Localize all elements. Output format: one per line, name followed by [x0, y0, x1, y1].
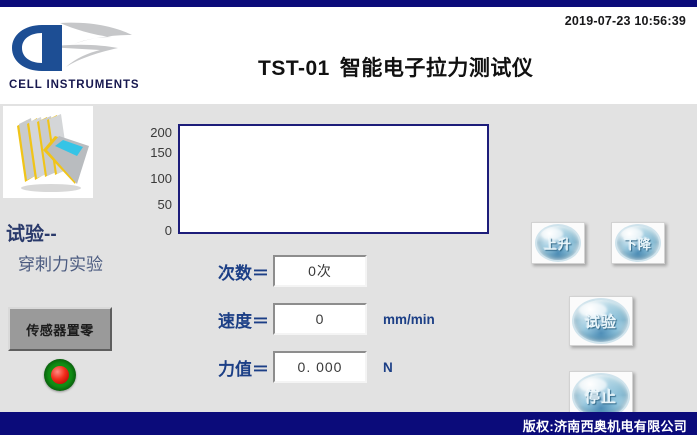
application-window: CELL INSTRUMENTS 2019-07-23 10:56:39 TST… [0, 0, 697, 435]
book-stack-icon [3, 106, 93, 198]
page-title: TST-01智能电子拉力测试仪 [258, 52, 533, 82]
count-label: 次数＝ [218, 259, 269, 284]
speed-input[interactable]: 0 [273, 303, 367, 335]
brand-name: CELL INSTRUMENTS [9, 79, 139, 91]
y-tick-0: 0 [165, 224, 172, 237]
page-title-model: TST-01 [258, 57, 330, 80]
force-label: 力值＝ [218, 355, 269, 380]
start-test-label: 试验 [585, 311, 617, 332]
datetime-display: 2019-07-23 10:56:39 [565, 14, 686, 28]
header-bar: CELL INSTRUMENTS 2019-07-23 10:56:39 TST… [0, 7, 697, 104]
top-accent-bar [0, 0, 697, 7]
stop-label: 停止 [585, 386, 617, 407]
move-up-orb: 上升 [535, 224, 581, 262]
chart-plot-area[interactable] [178, 124, 489, 234]
start-test-button[interactable]: 试验 [569, 296, 633, 346]
page-title-name: 智能电子拉力测试仪 [340, 57, 534, 80]
chart-series-layer [180, 126, 487, 232]
y-tick-50: 50 [158, 198, 172, 211]
count-field-row: 次数＝ 0次 [218, 254, 367, 288]
move-down-button[interactable]: 下降 [611, 222, 665, 264]
main-content: 试验-- 穿刺力实验 传感器置零 200 150 100 50 0 次数＝ 0次 [0, 104, 697, 412]
move-up-button[interactable]: 上升 [531, 222, 585, 264]
speed-label: 速度＝ [218, 307, 269, 332]
y-tick-150: 150 [150, 146, 172, 159]
book-stack-glyph [3, 106, 93, 198]
start-test-orb: 试验 [572, 298, 630, 344]
speed-field-row: 速度＝ 0 mm/min [218, 302, 435, 336]
y-tick-200: 200 [150, 126, 172, 139]
move-up-label: 上升 [544, 234, 572, 253]
test-mode-label: 试验-- [6, 219, 57, 246]
brand-logo: CELL INSTRUMENTS [8, 19, 138, 99]
count-input[interactable]: 0次 [273, 255, 367, 287]
move-down-orb: 下降 [615, 224, 661, 262]
sidebar: 试验-- 穿刺力实验 传感器置零 [0, 104, 132, 412]
speed-unit: mm/min [383, 312, 435, 327]
force-chart: 200 150 100 50 0 [133, 120, 503, 245]
footer-bar: 版权:济南西奥机电有限公司 [0, 412, 697, 435]
copyright-text: 版权:济南西奥机电有限公司 [523, 416, 687, 435]
force-field-row: 力值＝ 0. 000 N [218, 350, 393, 384]
cell-instruments-logo-icon [8, 19, 134, 77]
force-input[interactable]: 0. 000 [273, 351, 367, 383]
force-unit: N [383, 360, 393, 375]
chart-y-axis: 200 150 100 50 0 [133, 120, 175, 245]
sensor-zero-button[interactable]: 传感器置零 [8, 307, 112, 351]
test-type-label: 穿刺力实验 [18, 250, 103, 275]
move-down-label: 下降 [624, 234, 652, 253]
status-indicator-light[interactable] [44, 359, 76, 391]
y-tick-100: 100 [150, 172, 172, 185]
